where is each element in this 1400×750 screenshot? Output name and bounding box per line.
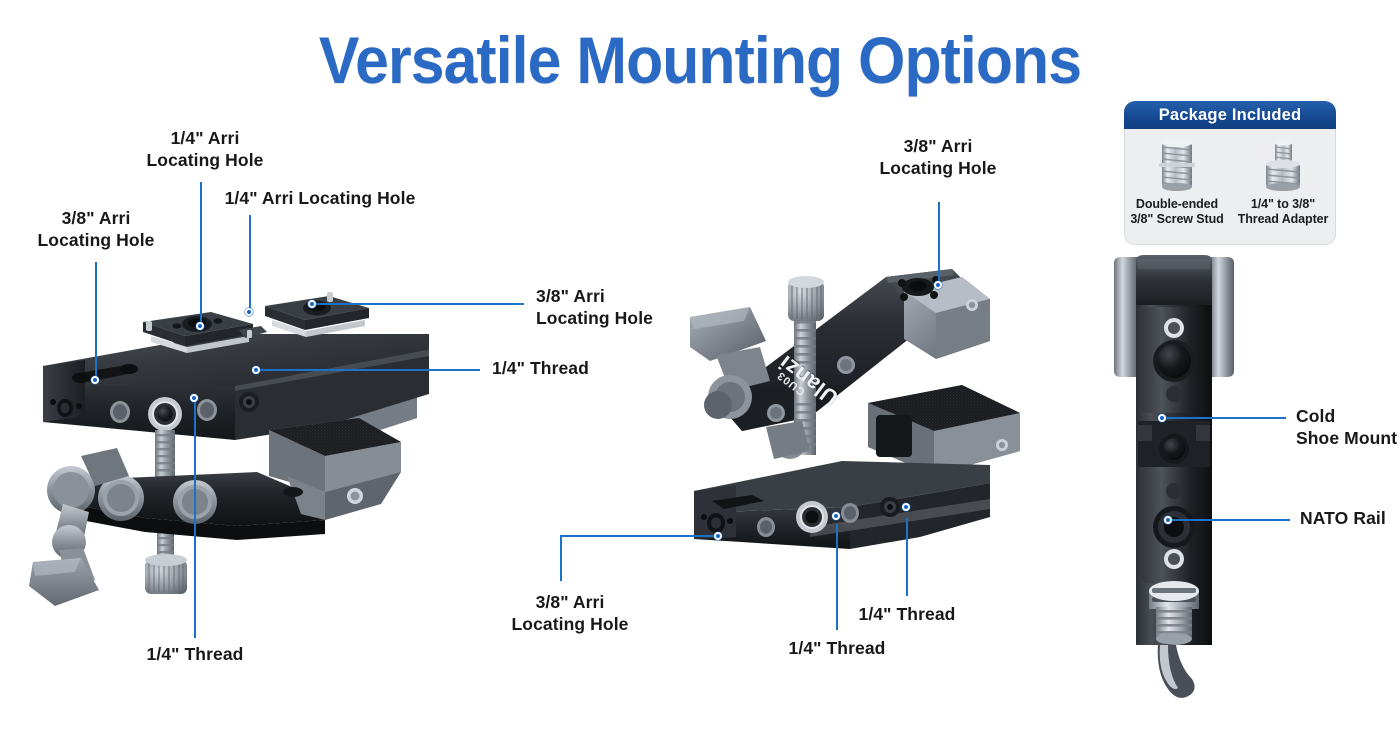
package-item-screw-stud: Double-ended 3/8" Screw Stud: [1124, 129, 1230, 245]
callout-line-left-3: [249, 215, 251, 312]
callout-label-left-5: 1/4" Thread: [492, 358, 652, 380]
product-center-super-clamp: Ulanzi CU03: [690, 255, 1050, 555]
callout-dot-right-2: [1164, 516, 1172, 524]
infographic-canvas: Versatile Mounting Options: [0, 0, 1400, 750]
callout-line-left-5: [256, 369, 480, 371]
package-item-caption: Double-ended 3/8" Screw Stud: [1130, 197, 1223, 228]
product-left-super-clamp: [25, 290, 455, 620]
callout-dot-right-1: [1158, 414, 1166, 422]
callout-line-center-1: [938, 202, 940, 285]
callout-label-right-2: NATO Rail: [1300, 508, 1400, 530]
callout-line-left-4: [312, 303, 524, 305]
screw-stud-icon: [1155, 136, 1199, 192]
callout-label-center-3: 1/4" Thread: [762, 638, 912, 660]
callout-line-left-6: [194, 398, 196, 638]
callout-label-left-2: 1/4" Arri Locating Hole: [110, 128, 300, 172]
package-item-caption: 1/4" to 3/8" Thread Adapter: [1238, 197, 1329, 228]
callout-line-right-2: [1168, 519, 1290, 521]
product-right-mounting-rail: [1112, 255, 1262, 705]
callout-dot-left-2: [196, 322, 204, 330]
callout-dot-left-6: [190, 394, 198, 402]
callout-line-left-1: [95, 262, 97, 380]
callout-label-left-4: 3/8" Arri Locating Hole: [536, 286, 736, 330]
callout-dot-left-4: [308, 300, 316, 308]
callout-line-center-2: [560, 535, 718, 537]
page-title: Versatile Mounting Options: [56, 26, 1344, 95]
callout-label-center-4: 1/4" Thread: [832, 604, 982, 626]
callout-line-right-1: [1162, 417, 1286, 419]
package-included-card: Package Included: [1124, 101, 1336, 245]
package-included-header: Package Included: [1124, 101, 1336, 129]
callout-label-left-3: 1/4" Arri Locating Hole: [190, 188, 450, 210]
callout-label-center-1: 3/8" Arri Locating Hole: [838, 136, 1038, 180]
package-included-body: Double-ended 3/8" Screw Stud: [1124, 129, 1336, 245]
callout-label-left-1: 3/8" Arri Locating Hole: [6, 208, 186, 252]
thread-adapter-icon: [1261, 136, 1305, 192]
callout-dot-left-3: [245, 308, 253, 316]
callout-label-left-6: 1/4" Thread: [100, 644, 290, 666]
callout-dot-center-1: [934, 281, 942, 289]
callout-label-center-2: 3/8" Arri Locating Hole: [470, 592, 670, 636]
callout-dot-left-1: [91, 376, 99, 384]
callout-dot-center-4: [902, 503, 910, 511]
callout-label-right-1: Cold Shoe Mount: [1296, 406, 1400, 450]
callout-line-center-2b: [560, 535, 562, 581]
callout-dot-center-2: [714, 532, 722, 540]
callout-line-center-4: [906, 518, 908, 596]
callout-dot-center-3: [832, 512, 840, 520]
callout-dot-left-5: [252, 366, 260, 374]
package-item-thread-adapter: 1/4" to 3/8" Thread Adapter: [1230, 129, 1336, 245]
